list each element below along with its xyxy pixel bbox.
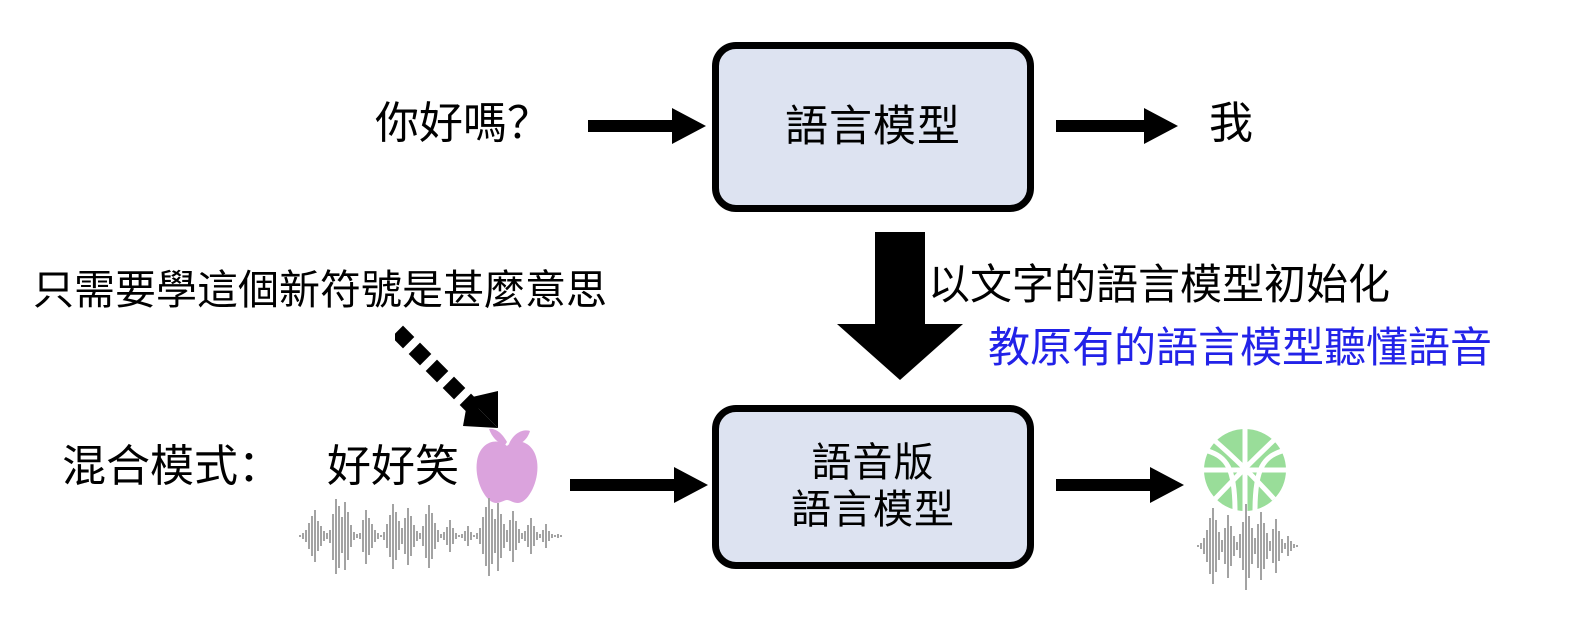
bottom-input-waveform-icon (298, 490, 566, 586)
mixed-mode-label: 混合模式： (62, 443, 282, 491)
speech-language-model-box[interactable]: 語音版 語言模型 (712, 405, 1034, 569)
bottom-input-arrow (570, 463, 710, 507)
speech-language-model-box-label-line1: 語音版 (812, 440, 935, 487)
dotted-pointer-arrow-icon (395, 325, 510, 430)
bottom-output-arrow (1056, 463, 1186, 507)
initialization-caption: 以文字的語言模型初始化 (928, 262, 1390, 308)
speech-language-model-box-label-line2: 語言模型 (791, 487, 955, 534)
text-language-model-box[interactable]: 語言模型 (712, 42, 1034, 212)
bottom-input-token-text: 好好笑 (327, 443, 459, 491)
top-input-text: 你好嗎？ (375, 100, 551, 148)
top-output-arrow (1056, 104, 1180, 148)
diagram-canvas: 你好嗎？ 語言模型 我 以文字的語言模型初始化 教原有的語言模型聽懂語音 只需要… (0, 0, 1574, 624)
text-language-model-box-label: 語言模型 (785, 102, 961, 153)
top-input-arrow (588, 104, 708, 148)
bottom-output-waveform-icon (1196, 498, 1300, 598)
top-output-text: 我 (1209, 100, 1253, 148)
teach-speech-caption: 教原有的語言模型聽懂語音 (988, 325, 1492, 371)
new-token-note: 只需要學這個新符號是甚麼意思 (33, 268, 607, 313)
